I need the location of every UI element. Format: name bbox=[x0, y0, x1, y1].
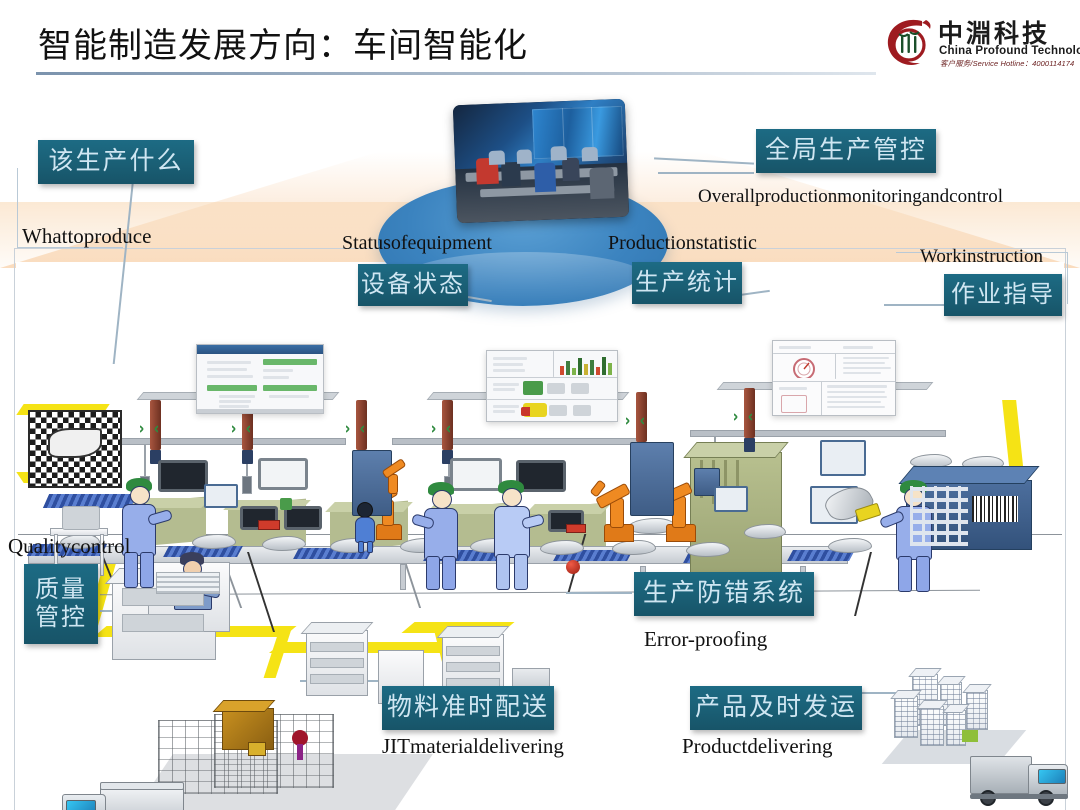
callout-jit-material[interactable]: 物料准时配送 bbox=[382, 686, 554, 730]
callout-what-to-produce[interactable]: 该生产什么 bbox=[38, 140, 194, 184]
qc-machine-1-panel-2 bbox=[122, 614, 204, 632]
warehouse-carton-2 bbox=[213, 700, 276, 712]
dashboard-work-instruction[interactable] bbox=[772, 340, 896, 416]
storage-cabinet-2-shelf bbox=[446, 646, 500, 656]
hmi-panel-3 bbox=[204, 484, 238, 508]
hmi-panel-1 bbox=[820, 440, 866, 476]
green-machine-top bbox=[683, 442, 788, 458]
rack-cells bbox=[910, 486, 968, 546]
callout-quality-control-line1: 质量 bbox=[35, 576, 87, 604]
part-8 bbox=[612, 540, 656, 555]
logo-mark-icon bbox=[882, 14, 938, 70]
callout-production-stat[interactable]: 生产统计 bbox=[632, 262, 742, 304]
storage-cabinet-1-shelf-3 bbox=[310, 674, 364, 684]
gantry-rail-1 bbox=[100, 438, 346, 445]
hmi-panel-4 bbox=[714, 486, 748, 512]
dashboard-equipment-status[interactable] bbox=[196, 344, 324, 414]
callout-work-instruction-en: Workinstruction bbox=[920, 246, 1043, 268]
callout-product-delivering[interactable]: 产品及时发运 bbox=[690, 686, 862, 730]
city-building-4 bbox=[894, 696, 918, 738]
worker-5 bbox=[484, 480, 540, 590]
part-3 bbox=[262, 536, 306, 551]
robot-arm-4 bbox=[384, 460, 414, 494]
machine-indicator-red bbox=[258, 520, 280, 530]
page-title: 智能制造发展方向：车间智能化 bbox=[38, 18, 528, 67]
logo-hotline: 客户服务/Service Hotline：4000114174 bbox=[940, 58, 1074, 69]
city-green-plot bbox=[962, 730, 978, 742]
andon-signal-icon-5 bbox=[626, 414, 644, 428]
diagram-scene: 该生产什么 Whattoproduce 全局生产管控 Overallproduc… bbox=[0, 82, 1080, 810]
callout-quality-control[interactable]: 质量 管控 bbox=[24, 564, 98, 644]
pendant-weight-2 bbox=[242, 476, 252, 494]
line-monitor-2 bbox=[258, 458, 308, 490]
rack-barcode-label bbox=[972, 496, 1018, 522]
callout-equipment-status[interactable]: 设备状态 bbox=[358, 264, 468, 306]
worker-4 bbox=[416, 482, 470, 590]
storage-cabinet-2-shelf-2 bbox=[446, 662, 500, 672]
gantry-rail-3 bbox=[690, 430, 946, 437]
qc-gauge-device bbox=[62, 506, 100, 530]
storage-cabinet-1-shelf-2 bbox=[310, 658, 364, 668]
gauge-icon bbox=[787, 356, 821, 378]
callout-error-proofing-en: Error-proofing bbox=[644, 627, 767, 652]
andon-signal-icon-3 bbox=[346, 422, 364, 436]
control-room-photo bbox=[453, 99, 629, 224]
truck-inbound bbox=[60, 782, 196, 810]
callout-product-delivering-en: Productdelivering bbox=[682, 734, 832, 759]
part-11 bbox=[744, 524, 786, 539]
machine-indicator-red-2 bbox=[566, 524, 586, 533]
storage-cabinet-1-shelf bbox=[310, 642, 364, 652]
control-cabinet-2 bbox=[630, 442, 674, 516]
callout-what-to-produce-en: Whattoproduce bbox=[22, 224, 151, 249]
callout-quality-control-line2: 管控 bbox=[35, 604, 87, 632]
title-underline bbox=[36, 72, 876, 75]
worker-3 bbox=[352, 502, 378, 552]
conveyor-support-2 bbox=[400, 564, 406, 590]
part-2 bbox=[192, 534, 236, 549]
part-12 bbox=[828, 538, 872, 553]
gantry-rail-2 bbox=[392, 438, 638, 445]
part-7 bbox=[540, 540, 584, 555]
machine-indicator-green bbox=[280, 498, 292, 510]
part-9 bbox=[686, 542, 730, 557]
pendant-1 bbox=[144, 445, 146, 477]
qc-machine-2-grill bbox=[156, 572, 220, 594]
error-indicator-ball bbox=[566, 560, 580, 574]
logo-company-en: China Profound Technology bbox=[939, 45, 1080, 57]
storage-cabinet-1-top bbox=[301, 622, 374, 634]
andon-base-6 bbox=[744, 438, 755, 452]
warehouse-pallet-small bbox=[248, 742, 266, 756]
andon-signal-icon-4 bbox=[432, 422, 450, 436]
callout-overall-control-en: Overallproductionmonitoringandcontrol bbox=[698, 186, 1003, 208]
warehouse-marker-stem bbox=[297, 744, 303, 760]
line-error-proofing-2 bbox=[566, 592, 632, 594]
callout-jit-material-en: JITmaterialdelivering bbox=[382, 734, 564, 759]
callout-production-stat-en: Productionstatistic bbox=[608, 232, 757, 255]
andon-base-2 bbox=[242, 450, 253, 464]
andon-signal-icon-6 bbox=[734, 410, 752, 424]
line-overall-control bbox=[658, 172, 754, 174]
slide-root: 智能制造发展方向：车间智能化 中淵科技 China Profound Techn… bbox=[0, 0, 1080, 810]
city-building-5 bbox=[920, 706, 944, 746]
andon-signal-icon-2 bbox=[232, 422, 250, 436]
callout-overall-control[interactable]: 全局生产管控 bbox=[756, 129, 936, 173]
inspection-machine-arm bbox=[48, 428, 102, 458]
callout-quality-control-en: Qualitycontrol bbox=[8, 534, 130, 559]
callout-equipment-status-en: Statusofequipment bbox=[342, 232, 492, 255]
truck-outbound bbox=[970, 750, 1078, 810]
callout-work-instruction[interactable]: 作业指导 bbox=[944, 274, 1062, 316]
city-building-3 bbox=[966, 690, 988, 730]
callout-error-proofing[interactable]: 生产防错系统 bbox=[634, 572, 814, 616]
storage-cabinet-2-top bbox=[437, 626, 510, 638]
company-logo: 中淵科技 China Profound Technology 客户服务/Serv… bbox=[876, 12, 1072, 74]
andon-signal-icon-1 bbox=[140, 422, 158, 436]
dashboard-production-overview[interactable] bbox=[486, 350, 618, 422]
